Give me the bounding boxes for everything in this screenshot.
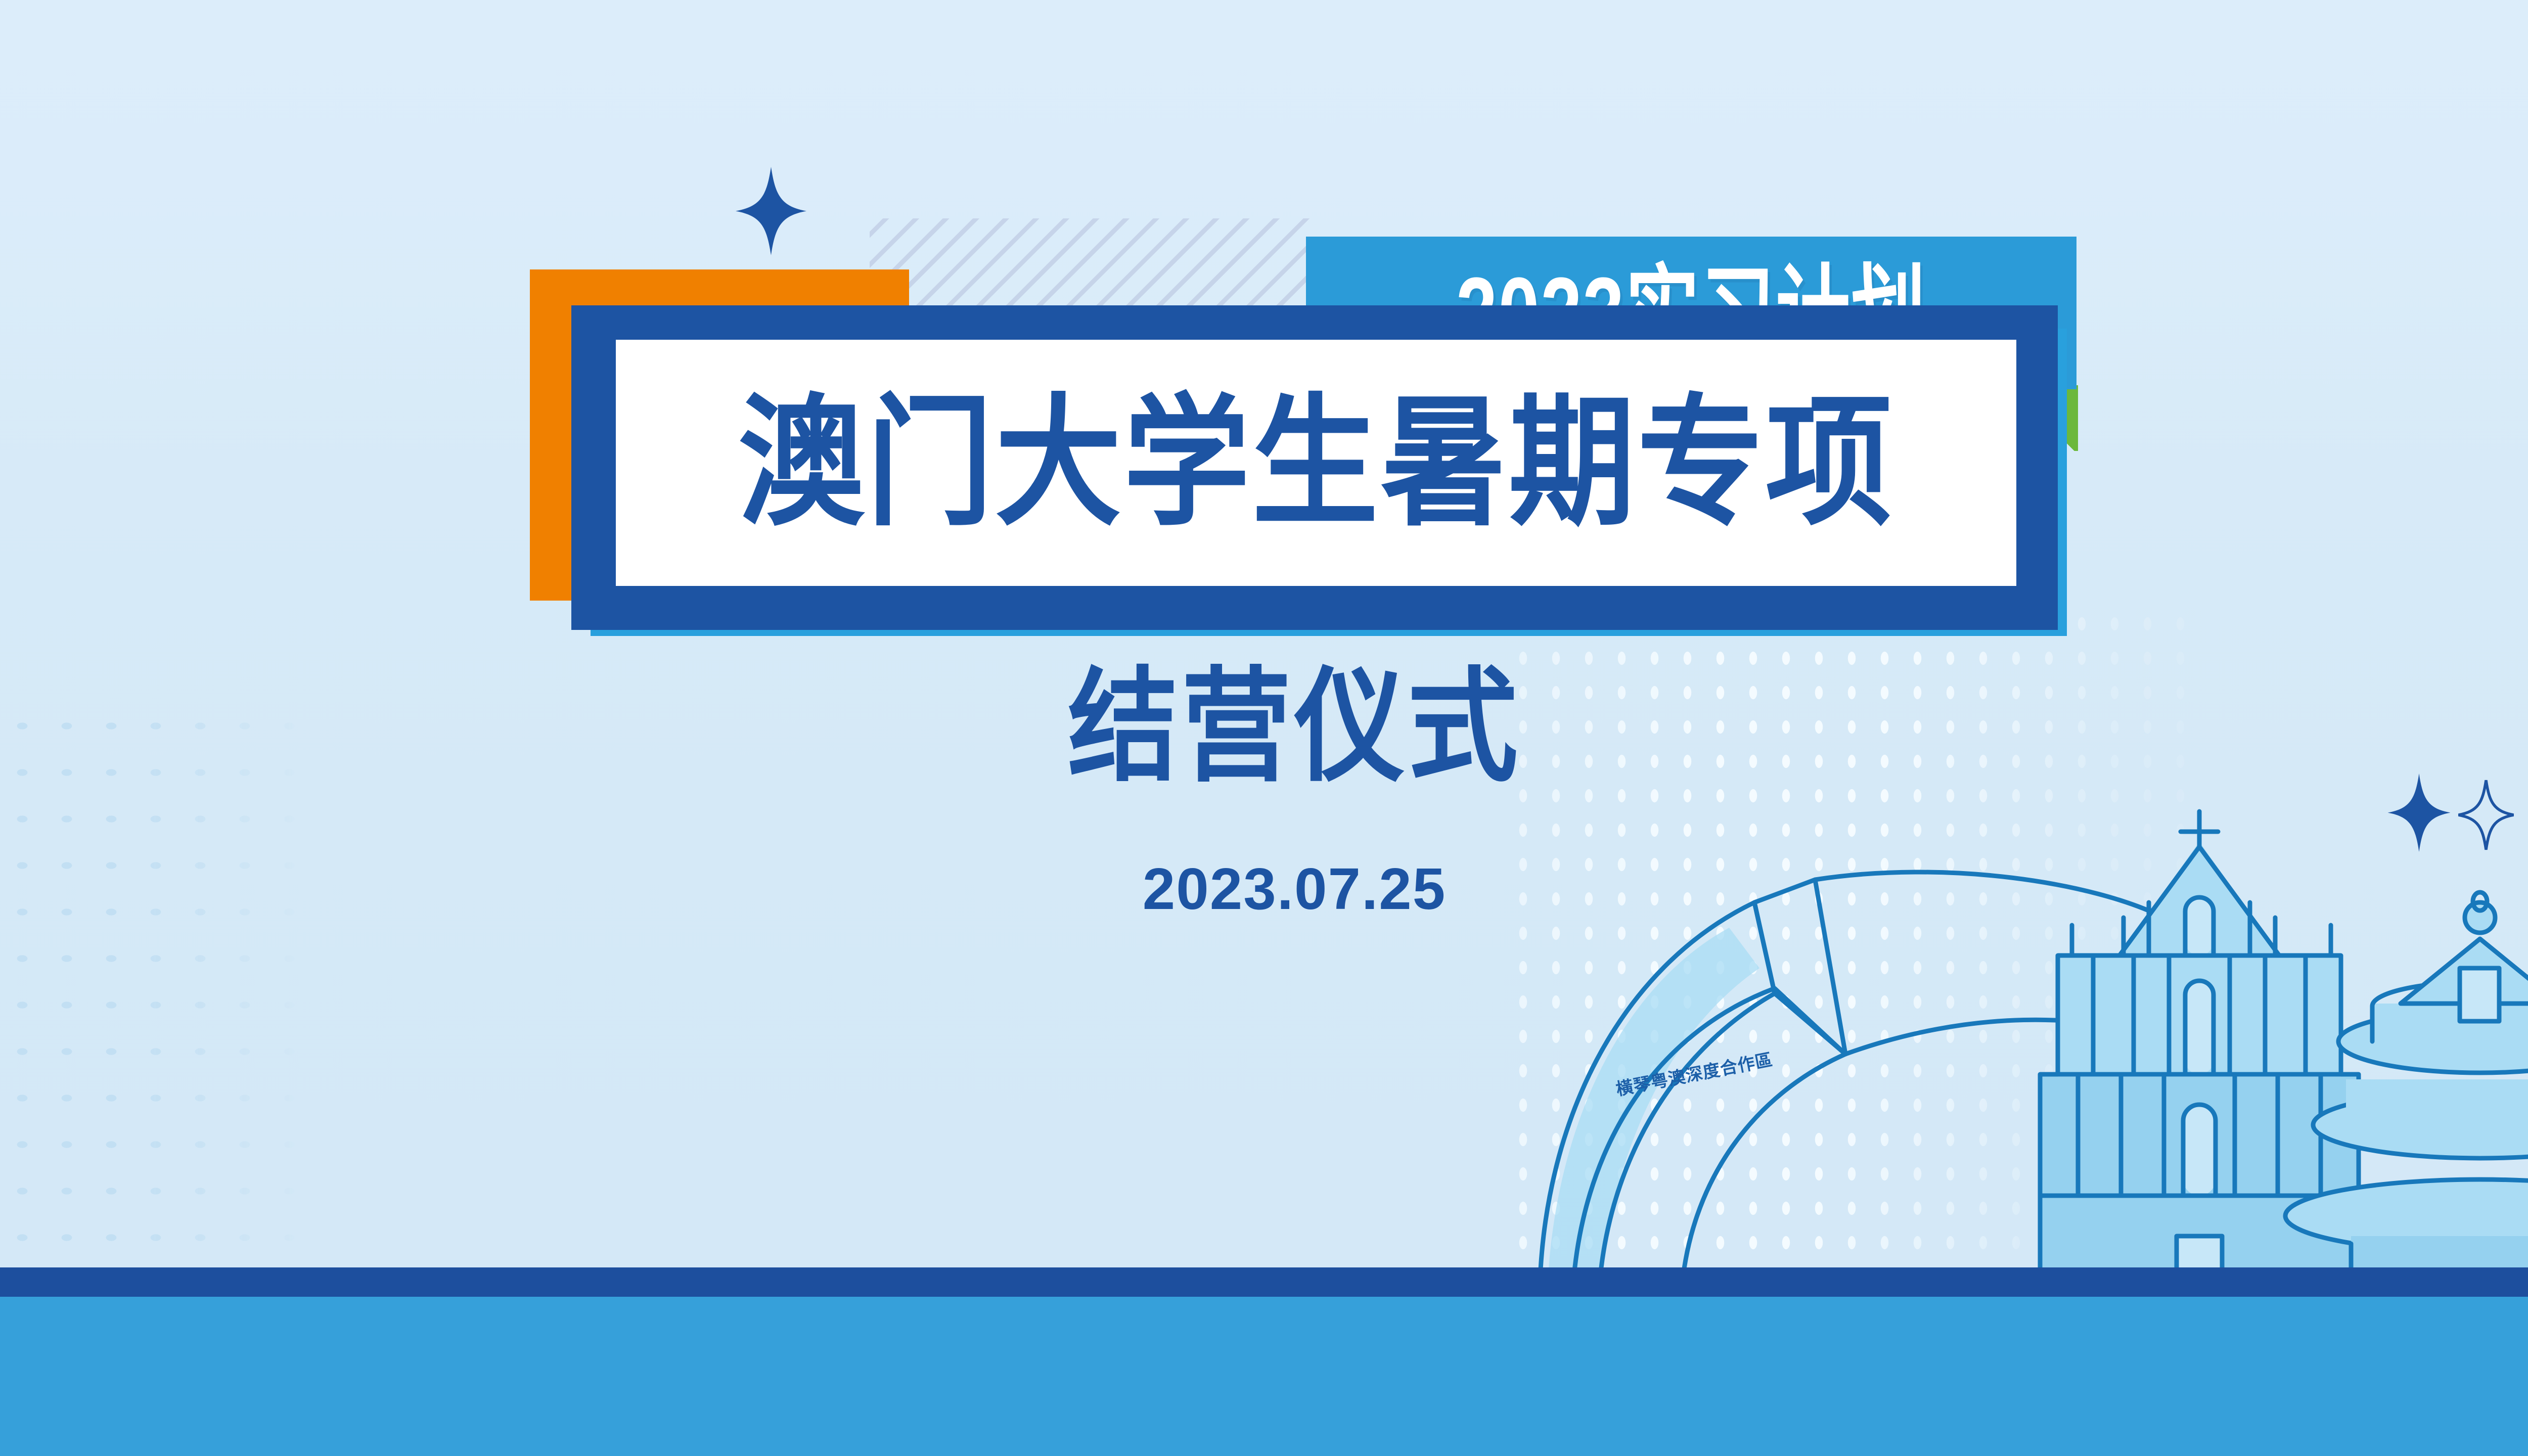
dot-grid-left bbox=[0, 703, 313, 1269]
page-title: 澳门大学生暑期专项 bbox=[616, 325, 2016, 601]
poster-canvas: 2023实习计划 澳门大学生暑期专项 结营仪式 2023.07.25 .ln{f… bbox=[0, 0, 2528, 1456]
sparkle-filled-icon bbox=[736, 167, 806, 255]
bottom-blue-band bbox=[0, 1297, 2528, 1456]
skyline-illustration: .ln{fill:none;stroke:#1878bb;stroke-widt… bbox=[1492, 751, 2528, 1297]
bottom-navy-band bbox=[0, 1267, 2528, 1297]
